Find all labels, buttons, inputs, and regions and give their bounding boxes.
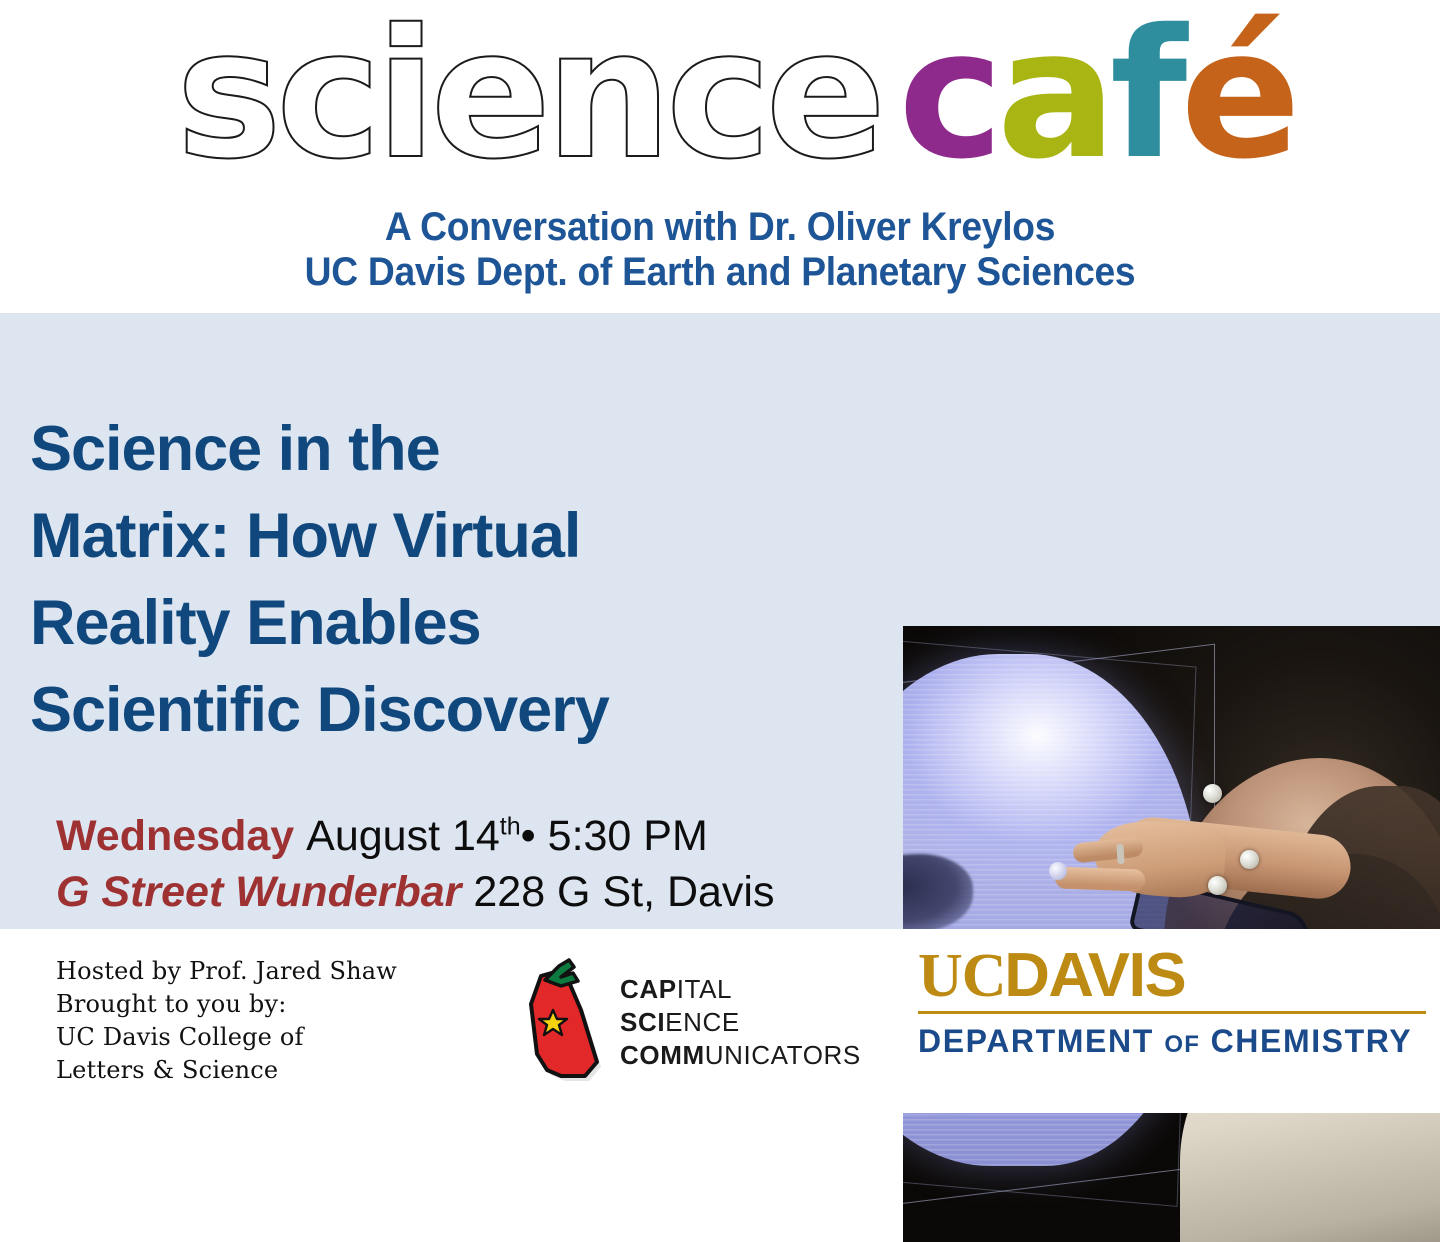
tracking-marker-1 <box>1203 784 1222 803</box>
capital-science-communicators-logo: CAPITAL SCIENCE COMMUNICATORS <box>522 951 902 1086</box>
speaker-subtitle: A Conversation with Dr. Oliver Kreylos U… <box>50 205 1389 295</box>
hosted-line-1: Hosted by Prof. Jared Shaw <box>56 955 486 988</box>
event-address: 228 G St, Davis <box>473 868 774 916</box>
hosted-by-block: Hosted by Prof. Jared Shaw Brought to yo… <box>56 955 486 1087</box>
hosted-line-3: UC Davis College of <box>56 1021 486 1054</box>
csc-line-communicators: COMMUNICATORS <box>620 1039 861 1072</box>
tracking-marker-3 <box>1208 876 1227 895</box>
event-date-text: August 14 <box>306 812 500 860</box>
subject-word: CHEMISTRY <box>1211 1023 1413 1059</box>
talk-title-line-4: Scientific Discovery <box>30 667 880 754</box>
csc-bold-cap: CAP <box>620 974 677 1004</box>
subtitle-line-2: UC Davis Dept. of Earth and Planetary Sc… <box>50 250 1389 295</box>
event-day: Wednesday <box>56 812 294 860</box>
csc-wordmark: CAPITAL SCIENCE COMMUNICATORS <box>620 973 861 1072</box>
cafe-letter-a: a <box>997 0 1110 198</box>
event-time: • 5:30 PM <box>521 812 708 860</box>
of-word: OF <box>1164 1031 1200 1058</box>
cafe-letter-c: c <box>898 0 997 198</box>
science-cafe-logo: science café <box>0 6 1440 202</box>
hosted-line-2: Brought to you by: <box>56 988 486 1021</box>
talk-title-line-3: Reality Enables <box>30 580 880 667</box>
talk-title-line-2: Matrix: How Virtual <box>30 493 880 580</box>
tracking-marker-2 <box>1240 850 1259 869</box>
csc-bold-sci: SCI <box>620 1007 665 1037</box>
csc-rest-ital: ITAL <box>677 974 732 1004</box>
department-word: DEPARTMENT <box>918 1023 1154 1059</box>
event-venue: G Street Wunderbar <box>56 868 461 916</box>
event-date <box>294 812 306 860</box>
department-line: DEPARTMENT OF CHEMISTRY <box>918 1023 1428 1060</box>
csc-bold-comm: COMM <box>620 1040 705 1070</box>
davis-text: DAVIS <box>1004 945 1185 1007</box>
csc-line-science: SCIENCE <box>620 1006 861 1039</box>
uc-davis-chemistry-logo: UCDAVIS DEPARTMENT OF CHEMISTRY <box>918 945 1428 1065</box>
poster-header: science café A Conversation with Dr. Oli… <box>0 0 1440 313</box>
event-venue-line: G Street Wunderbar 228 G St, Davis <box>56 864 886 920</box>
cafe-letter-f: f <box>1110 0 1180 198</box>
event-datetime-line: Wednesday August 14th• 5:30 PM <box>56 808 886 864</box>
uc-davis-gold-rule <box>918 1011 1426 1014</box>
event-panel: Science in the Matrix: How Virtual Reali… <box>0 313 1440 929</box>
person-ring <box>1116 844 1124 864</box>
california-chili-pepper-icon <box>522 955 626 1083</box>
talk-title-line-1: Science in the <box>30 406 880 493</box>
poster-footer: Hosted by Prof. Jared Shaw Brought to yo… <box>0 929 1440 1113</box>
csc-line-capital: CAPITAL <box>620 973 861 1006</box>
subtitle-line-1: A Conversation with Dr. Oliver Kreylos <box>50 205 1389 250</box>
csc-rest-unicators: UNICATORS <box>705 1040 861 1070</box>
cafe-letter-e-accent: é <box>1180 0 1294 198</box>
uc-davis-wordmark: UCDAVIS <box>918 945 1428 1007</box>
talk-title: Science in the Matrix: How Virtual Reali… <box>30 406 880 754</box>
event-venue-gap <box>461 868 473 916</box>
dept-gap-2 <box>1200 1023 1211 1059</box>
cafe-wordmark: café <box>898 6 1294 184</box>
event-date-ordinal: th <box>500 813 521 841</box>
hosted-line-4: Letters & Science <box>56 1054 486 1087</box>
csc-rest-ence: ENCE <box>665 1007 740 1037</box>
uc-text: UC <box>918 942 1006 1010</box>
person-pointing-finger <box>1055 866 1146 891</box>
event-details: Wednesday August 14th• 5:30 PM G Street … <box>56 808 886 920</box>
finger-tracking-marker <box>1049 862 1067 880</box>
dept-gap-1 <box>1154 1023 1165 1059</box>
science-wordmark-outline: science <box>146 6 880 184</box>
